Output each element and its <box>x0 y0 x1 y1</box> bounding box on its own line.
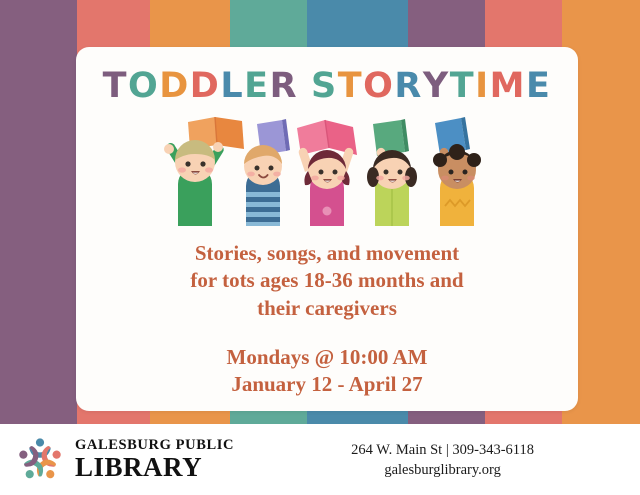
title-letter-0: T <box>103 69 128 104</box>
title-letter-8: S <box>311 69 338 104</box>
description-line-2: for tots ages 18-36 months and <box>190 267 463 294</box>
child-5 <box>433 117 481 226</box>
title-letter-4: L <box>220 69 244 104</box>
description-line-1: Stories, songs, and movement <box>190 240 463 267</box>
title-letter-14: I <box>475 69 490 104</box>
title-letter-11: R <box>394 69 422 104</box>
title-letter-6: R <box>270 69 298 104</box>
library-brand: GALESBURG PUBLIC LIBRARY <box>14 434 234 486</box>
child-3 <box>297 120 357 226</box>
title-letter-1: O <box>128 69 159 104</box>
schedule-text: Mondays @ 10:00 AM January 12 - April 27 <box>227 344 428 399</box>
title-letter-13: T <box>450 69 475 104</box>
schedule-time: Mondays @ 10:00 AM <box>227 344 428 371</box>
contact-address: 264 W. Main St | 309-343-6118 <box>351 440 534 460</box>
brand-line-galesburg-public: GALESBURG PUBLIC <box>75 438 234 453</box>
content-card: TODDLERSTORYTIME <box>76 47 578 411</box>
children-illustration <box>147 114 507 226</box>
title-letter-5: E <box>244 69 269 104</box>
page-title: TODDLERSTORYTIME <box>103 69 552 104</box>
child-4 <box>367 119 417 226</box>
description-line-3: their caregivers <box>190 295 463 322</box>
contact-website: galesburglibrary.org <box>351 460 534 480</box>
brand-wordmark: GALESBURG PUBLIC LIBRARY <box>75 438 234 482</box>
contact-info: 264 W. Main St | 309-343-6118 galesburgl… <box>351 440 534 480</box>
title-letter-9: T <box>338 69 363 104</box>
flyer-canvas: TODDLERSTORYTIME <box>0 0 640 495</box>
schedule-dates: January 12 - April 27 <box>227 371 428 398</box>
child-2 <box>244 119 290 226</box>
title-letter-10: O <box>363 69 394 104</box>
title-letter-15: M <box>490 69 526 104</box>
title-letter-3: D <box>190 69 221 104</box>
title-letter-2: D <box>159 69 190 104</box>
footer-bar: GALESBURG PUBLIC LIBRARY 264 W. Main St … <box>0 424 640 495</box>
description-text: Stories, songs, and movement for tots ag… <box>190 240 463 322</box>
brand-line-library: LIBRARY <box>75 454 234 481</box>
child-1 <box>164 117 244 226</box>
title-letter-12: Y <box>423 69 450 104</box>
stripe-purple-1 <box>0 0 77 424</box>
title-letter-16: E <box>526 69 551 104</box>
library-logo-icon <box>14 434 66 486</box>
